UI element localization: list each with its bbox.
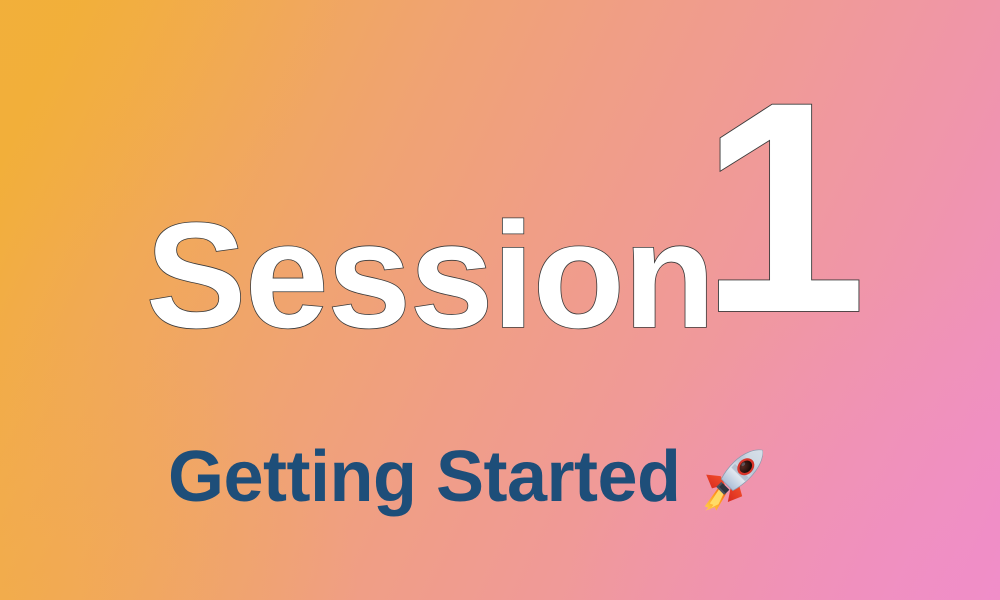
subtitle-row: Getting Started: [0, 432, 1000, 522]
session-number: 1: [700, 57, 867, 357]
subtitle-label: Getting Started: [168, 437, 681, 517]
rocket-emoji: [699, 443, 771, 515]
slide-canvas: Session 1 Getting Started: [0, 0, 1000, 600]
slide-content: Session 1 Getting Started: [0, 0, 1000, 600]
session-title-word: Session: [146, 200, 714, 350]
title-row: Session 1: [0, 0, 1000, 360]
